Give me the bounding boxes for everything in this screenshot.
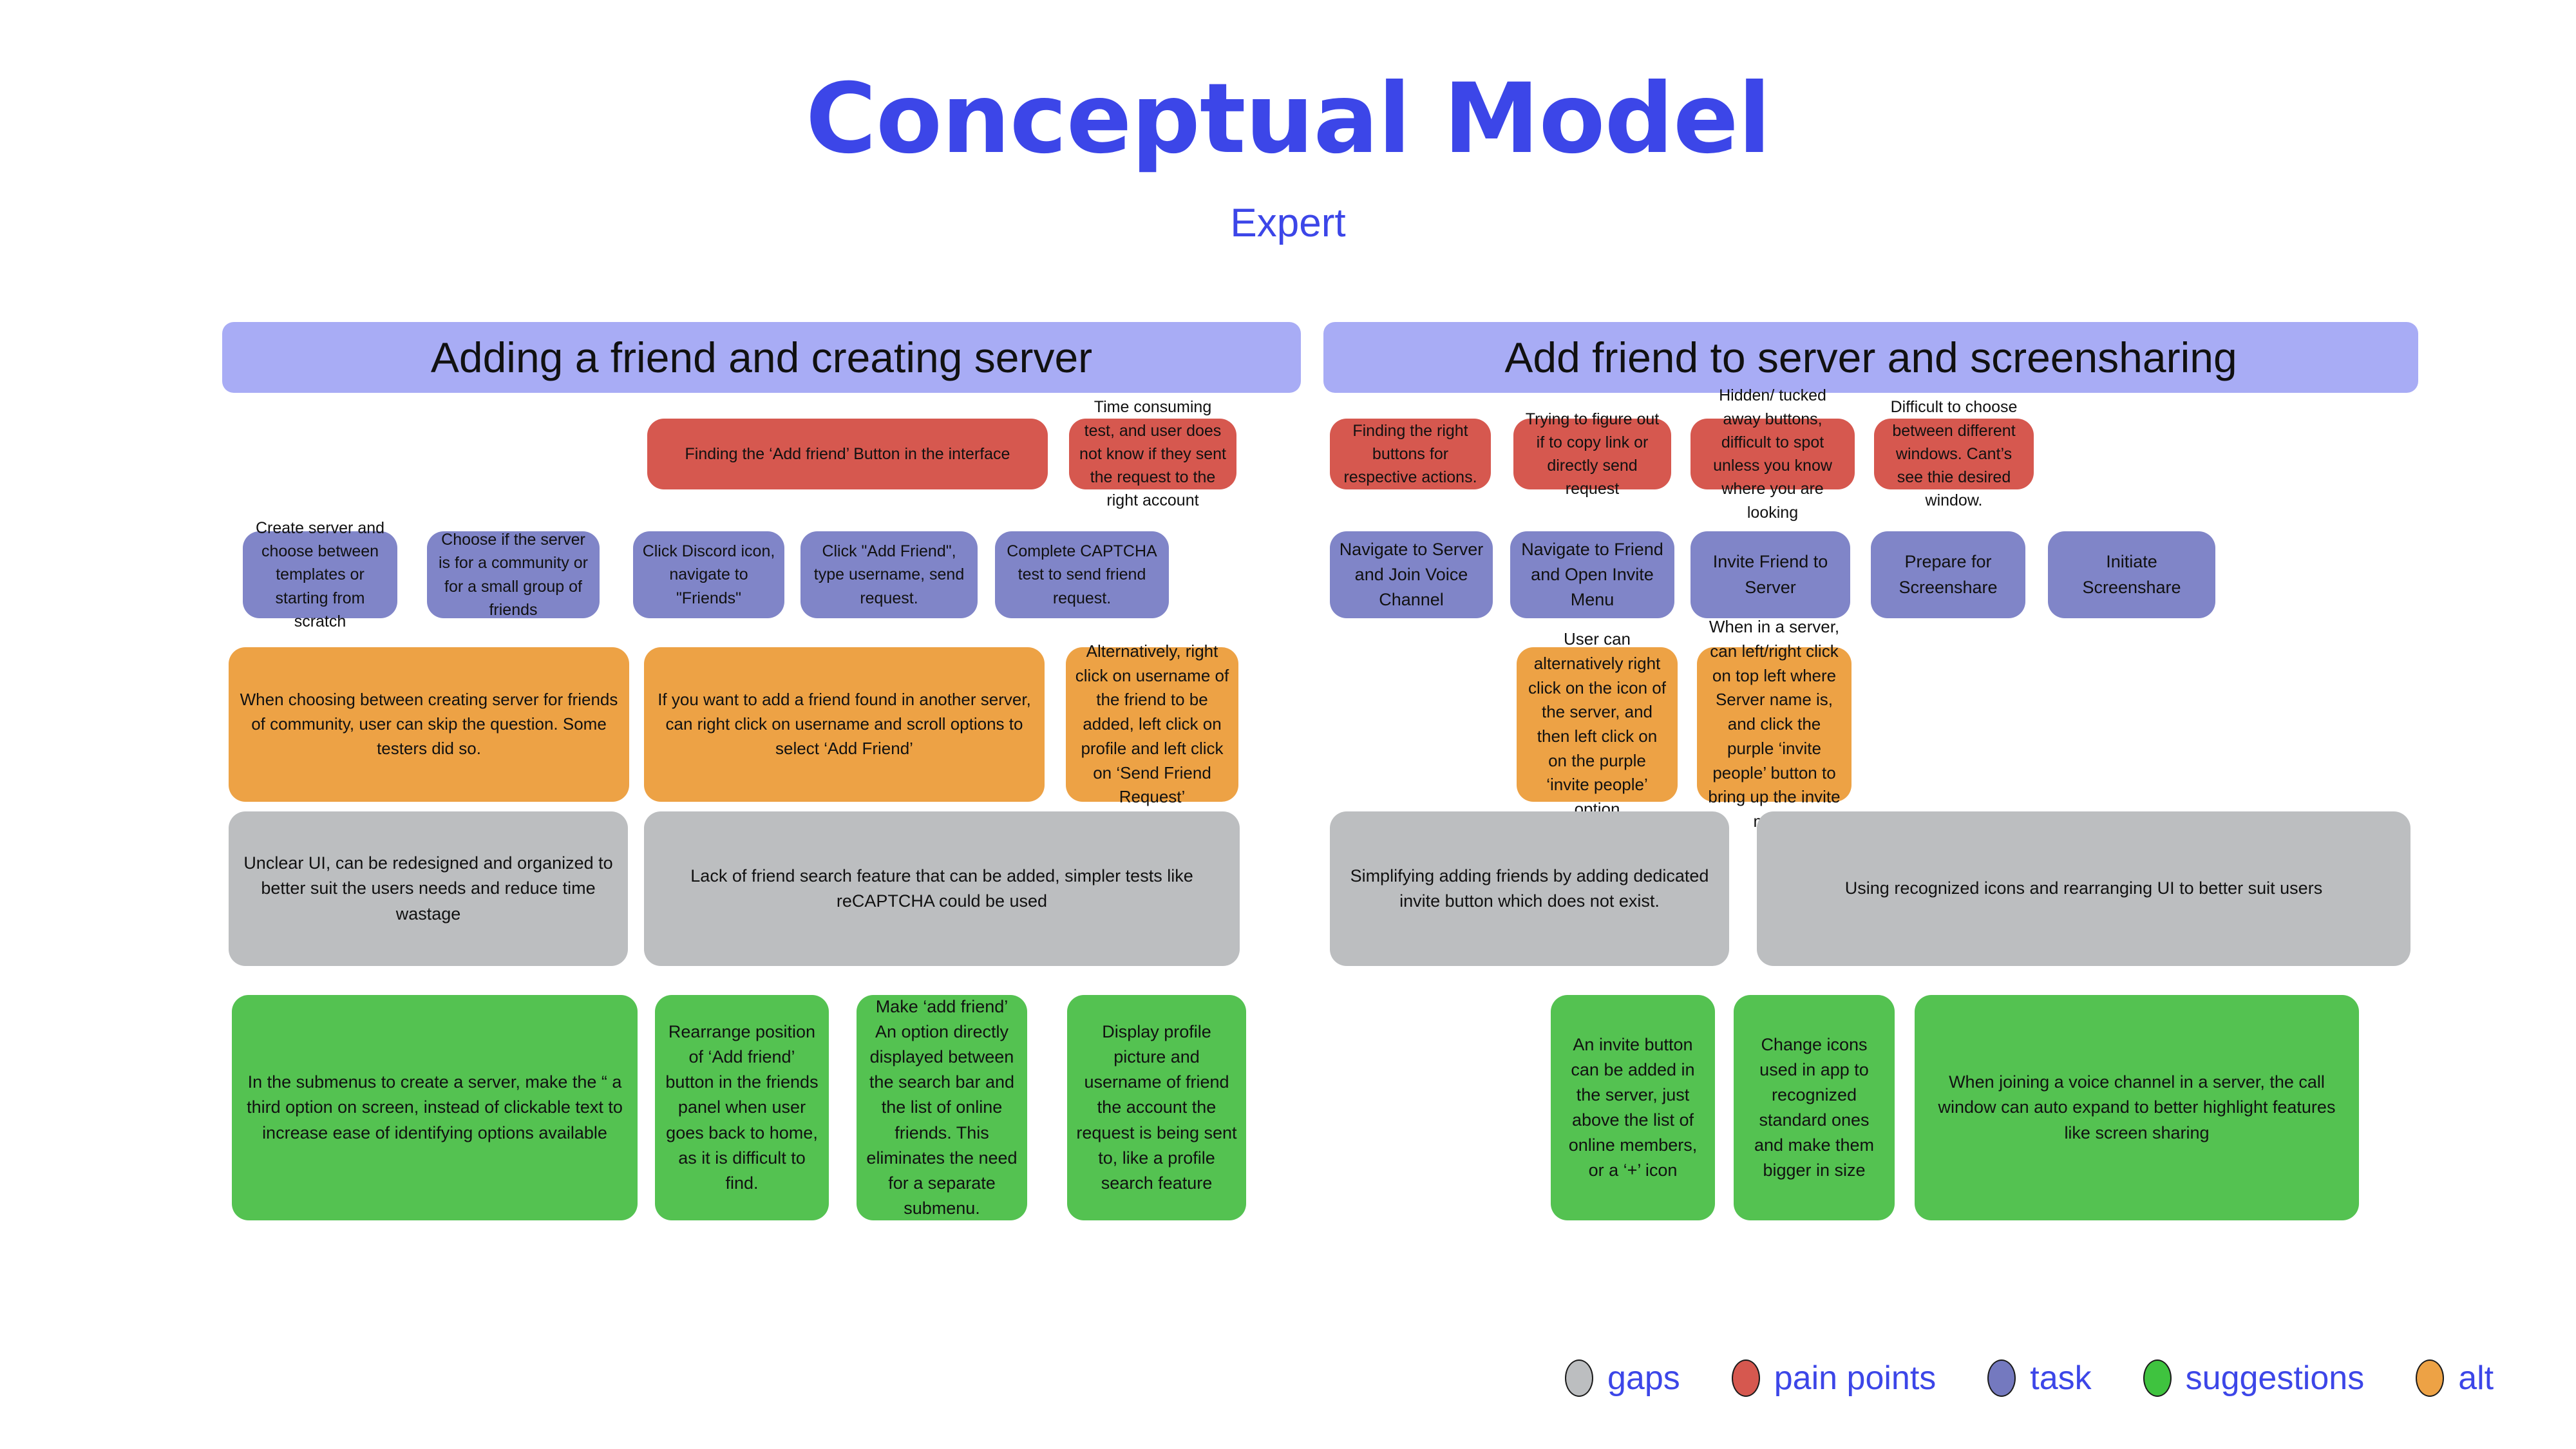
task-card[interactable]: Navigate to Friend and Open Invite Menu bbox=[1510, 531, 1674, 618]
suggestion-card[interactable]: In the submenus to create a server, make… bbox=[232, 995, 638, 1220]
alt-card-label: User can alternatively right click on th… bbox=[1526, 627, 1669, 822]
legend: gapspain pointstasksuggestionsalt bbox=[1565, 1359, 2545, 1397]
pain-point-card[interactable]: Finding the right buttons for respective… bbox=[1330, 419, 1491, 489]
row-alts-left: When choosing between creating server fo… bbox=[222, 647, 1317, 802]
suggestion-card[interactable]: Change icons used in app to recognized s… bbox=[1734, 995, 1895, 1220]
gap-card-label: Using recognized icons and rearranging U… bbox=[1766, 876, 2401, 901]
gap-card[interactable]: Simplifying adding friends by adding ded… bbox=[1330, 811, 1729, 966]
row-gaps-right: Simplifying adding friends by adding ded… bbox=[1323, 811, 2418, 966]
task-card-label: Complete CAPTCHA test to send friend req… bbox=[1004, 540, 1160, 610]
row-pain-points-right: Finding the right buttons for respective… bbox=[1323, 419, 2418, 489]
section-header-left: Adding a friend and creating server bbox=[222, 322, 1301, 393]
gap-card[interactable]: Using recognized icons and rearranging U… bbox=[1757, 811, 2410, 966]
suggestion-card[interactable]: When joining a voice channel in a server… bbox=[1915, 995, 2359, 1220]
legend-dot-icon bbox=[1565, 1359, 1593, 1397]
legend-dot-icon bbox=[2416, 1359, 2444, 1397]
task-card[interactable]: Click Discord icon, navigate to "Friends… bbox=[633, 531, 784, 618]
task-card[interactable]: Navigate to Server and Join Voice Channe… bbox=[1330, 531, 1493, 618]
alt-card-label: Alternatively, right click on username o… bbox=[1075, 639, 1229, 810]
suggestion-card[interactable]: An invite button can be added in the ser… bbox=[1551, 995, 1715, 1220]
suggestion-card-label: In the submenus to create a server, make… bbox=[241, 1070, 629, 1145]
column-group-left: Adding a friend and creating serverFindi… bbox=[222, 322, 1317, 393]
column-group-right: Add friend to server and screensharingFi… bbox=[1323, 322, 2418, 393]
task-card-label: Prepare for Screenshare bbox=[1880, 549, 2016, 600]
task-card[interactable]: Click "Add Friend", type username, send … bbox=[800, 531, 978, 618]
legend-label: gaps bbox=[1607, 1359, 1680, 1397]
title-block: Conceptual Model Expert bbox=[0, 71, 2576, 243]
pain-point-card-label: Hidden/ tucked away buttons, difficult t… bbox=[1700, 384, 1846, 524]
legend-item-suggestions: suggestions bbox=[2143, 1359, 2365, 1397]
row-gaps-left: Unclear UI, can be redesigned and organi… bbox=[222, 811, 1317, 966]
legend-dot-icon bbox=[1732, 1359, 1760, 1397]
row-suggestions-right: An invite button can be added in the ser… bbox=[1323, 995, 2418, 1220]
pain-point-card-label: Finding the ‘Add friend’ Button in the i… bbox=[656, 442, 1039, 466]
legend-item-task: task bbox=[1987, 1359, 2091, 1397]
pain-point-card-label: Finding the right buttons for respective… bbox=[1339, 419, 1482, 489]
task-card[interactable]: Choose if the server is for a community … bbox=[427, 531, 600, 618]
suggestion-card[interactable]: Display profile picture and username of … bbox=[1067, 995, 1246, 1220]
task-card-label: Click "Add Friend", type username, send … bbox=[810, 540, 969, 610]
alt-card[interactable]: When choosing between creating server fo… bbox=[229, 647, 629, 802]
page-subtitle: Expert bbox=[0, 204, 2576, 243]
task-card-label: Choose if the server is for a community … bbox=[436, 528, 591, 621]
pain-point-card-label: Trying to figure out if to copy link or … bbox=[1522, 408, 1662, 501]
alt-card-label: If you want to add a friend found in ano… bbox=[653, 688, 1036, 761]
legend-label: alt bbox=[2458, 1359, 2494, 1397]
row-pain-points-left: Finding the ‘Add friend’ Button in the i… bbox=[222, 419, 1317, 489]
task-card-label: Navigate to Friend and Open Invite Menu bbox=[1519, 537, 1665, 612]
legend-item-alt: alt bbox=[2416, 1359, 2494, 1397]
pain-point-card-label: Difficult to choose between different wi… bbox=[1883, 395, 2025, 512]
legend-label: suggestions bbox=[2186, 1359, 2365, 1397]
alt-card-label: When in a server, can left/right click o… bbox=[1706, 615, 1842, 833]
pain-point-card-label: Time consuming test, and user does not k… bbox=[1078, 395, 1227, 512]
row-tasks-left: Create server and choose between templat… bbox=[222, 531, 1317, 618]
pain-point-card[interactable]: Difficult to choose between different wi… bbox=[1874, 419, 2034, 489]
pain-point-card[interactable]: Trying to figure out if to copy link or … bbox=[1513, 419, 1671, 489]
gap-card[interactable]: Lack of friend search feature that can b… bbox=[644, 811, 1240, 966]
pain-point-card[interactable]: Time consuming test, and user does not k… bbox=[1069, 419, 1236, 489]
suggestion-card-label: Make ‘add friend’ An option directly dis… bbox=[866, 994, 1018, 1221]
gap-card[interactable]: Unclear UI, can be redesigned and organi… bbox=[229, 811, 628, 966]
alt-card-label: When choosing between creating server fo… bbox=[238, 688, 620, 761]
legend-item-gaps: gaps bbox=[1565, 1359, 1680, 1397]
suggestion-card-label: Rearrange position of ‘Add friend’ butto… bbox=[664, 1019, 820, 1196]
page-title: Conceptual Model bbox=[0, 71, 2576, 167]
task-card[interactable]: Complete CAPTCHA test to send friend req… bbox=[995, 531, 1169, 618]
task-card-label: Invite Friend to Server bbox=[1700, 549, 1841, 600]
task-card[interactable]: Invite Friend to Server bbox=[1690, 531, 1850, 618]
legend-label: pain points bbox=[1774, 1359, 1937, 1397]
suggestion-card[interactable]: Make ‘add friend’ An option directly dis… bbox=[857, 995, 1027, 1220]
suggestion-card-label: Change icons used in app to recognized s… bbox=[1743, 1032, 1886, 1184]
alt-card[interactable]: When in a server, can left/right click o… bbox=[1697, 647, 1851, 802]
gap-card-label: Simplifying adding friends by adding ded… bbox=[1339, 864, 1720, 914]
task-card[interactable]: Prepare for Screenshare bbox=[1871, 531, 2025, 618]
section-header-right: Add friend to server and screensharing bbox=[1323, 322, 2418, 393]
task-card-label: Create server and choose between templat… bbox=[252, 516, 388, 633]
row-tasks-right: Navigate to Server and Join Voice Channe… bbox=[1323, 531, 2418, 618]
legend-label: task bbox=[2030, 1359, 2091, 1397]
alt-card[interactable]: User can alternatively right click on th… bbox=[1517, 647, 1678, 802]
alt-card[interactable]: If you want to add a friend found in ano… bbox=[644, 647, 1045, 802]
task-card-label: Click Discord icon, navigate to "Friends… bbox=[642, 540, 775, 610]
alt-card[interactable]: Alternatively, right click on username o… bbox=[1066, 647, 1238, 802]
suggestion-card-label: When joining a voice channel in a server… bbox=[1924, 1070, 2350, 1145]
section-header-label: Adding a friend and creating server bbox=[431, 333, 1092, 382]
gap-card-label: Lack of friend search feature that can b… bbox=[653, 864, 1231, 914]
gap-card-label: Unclear UI, can be redesigned and organi… bbox=[238, 851, 619, 926]
pain-point-card[interactable]: Hidden/ tucked away buttons, difficult t… bbox=[1690, 419, 1855, 489]
legend-dot-icon bbox=[1987, 1359, 2016, 1397]
legend-dot-icon bbox=[2143, 1359, 2172, 1397]
suggestion-card[interactable]: Rearrange position of ‘Add friend’ butto… bbox=[655, 995, 829, 1220]
section-header-label: Add friend to server and screensharing bbox=[1504, 333, 2237, 382]
suggestion-card-label: Display profile picture and username of … bbox=[1076, 1019, 1237, 1196]
task-card[interactable]: Create server and choose between templat… bbox=[243, 531, 397, 618]
row-alts-right: User can alternatively right click on th… bbox=[1323, 647, 2418, 802]
suggestion-card-label: An invite button can be added in the ser… bbox=[1560, 1032, 1706, 1184]
legend-item-pain-points: pain points bbox=[1732, 1359, 1937, 1397]
pain-point-card[interactable]: Finding the ‘Add friend’ Button in the i… bbox=[647, 419, 1048, 489]
row-suggestions-left: In the submenus to create a server, make… bbox=[222, 995, 1317, 1220]
task-card[interactable]: Initiate Screenshare bbox=[2048, 531, 2215, 618]
task-card-label: Navigate to Server and Join Voice Channe… bbox=[1339, 537, 1484, 612]
task-card-label: Initiate Screenshare bbox=[2057, 549, 2206, 600]
